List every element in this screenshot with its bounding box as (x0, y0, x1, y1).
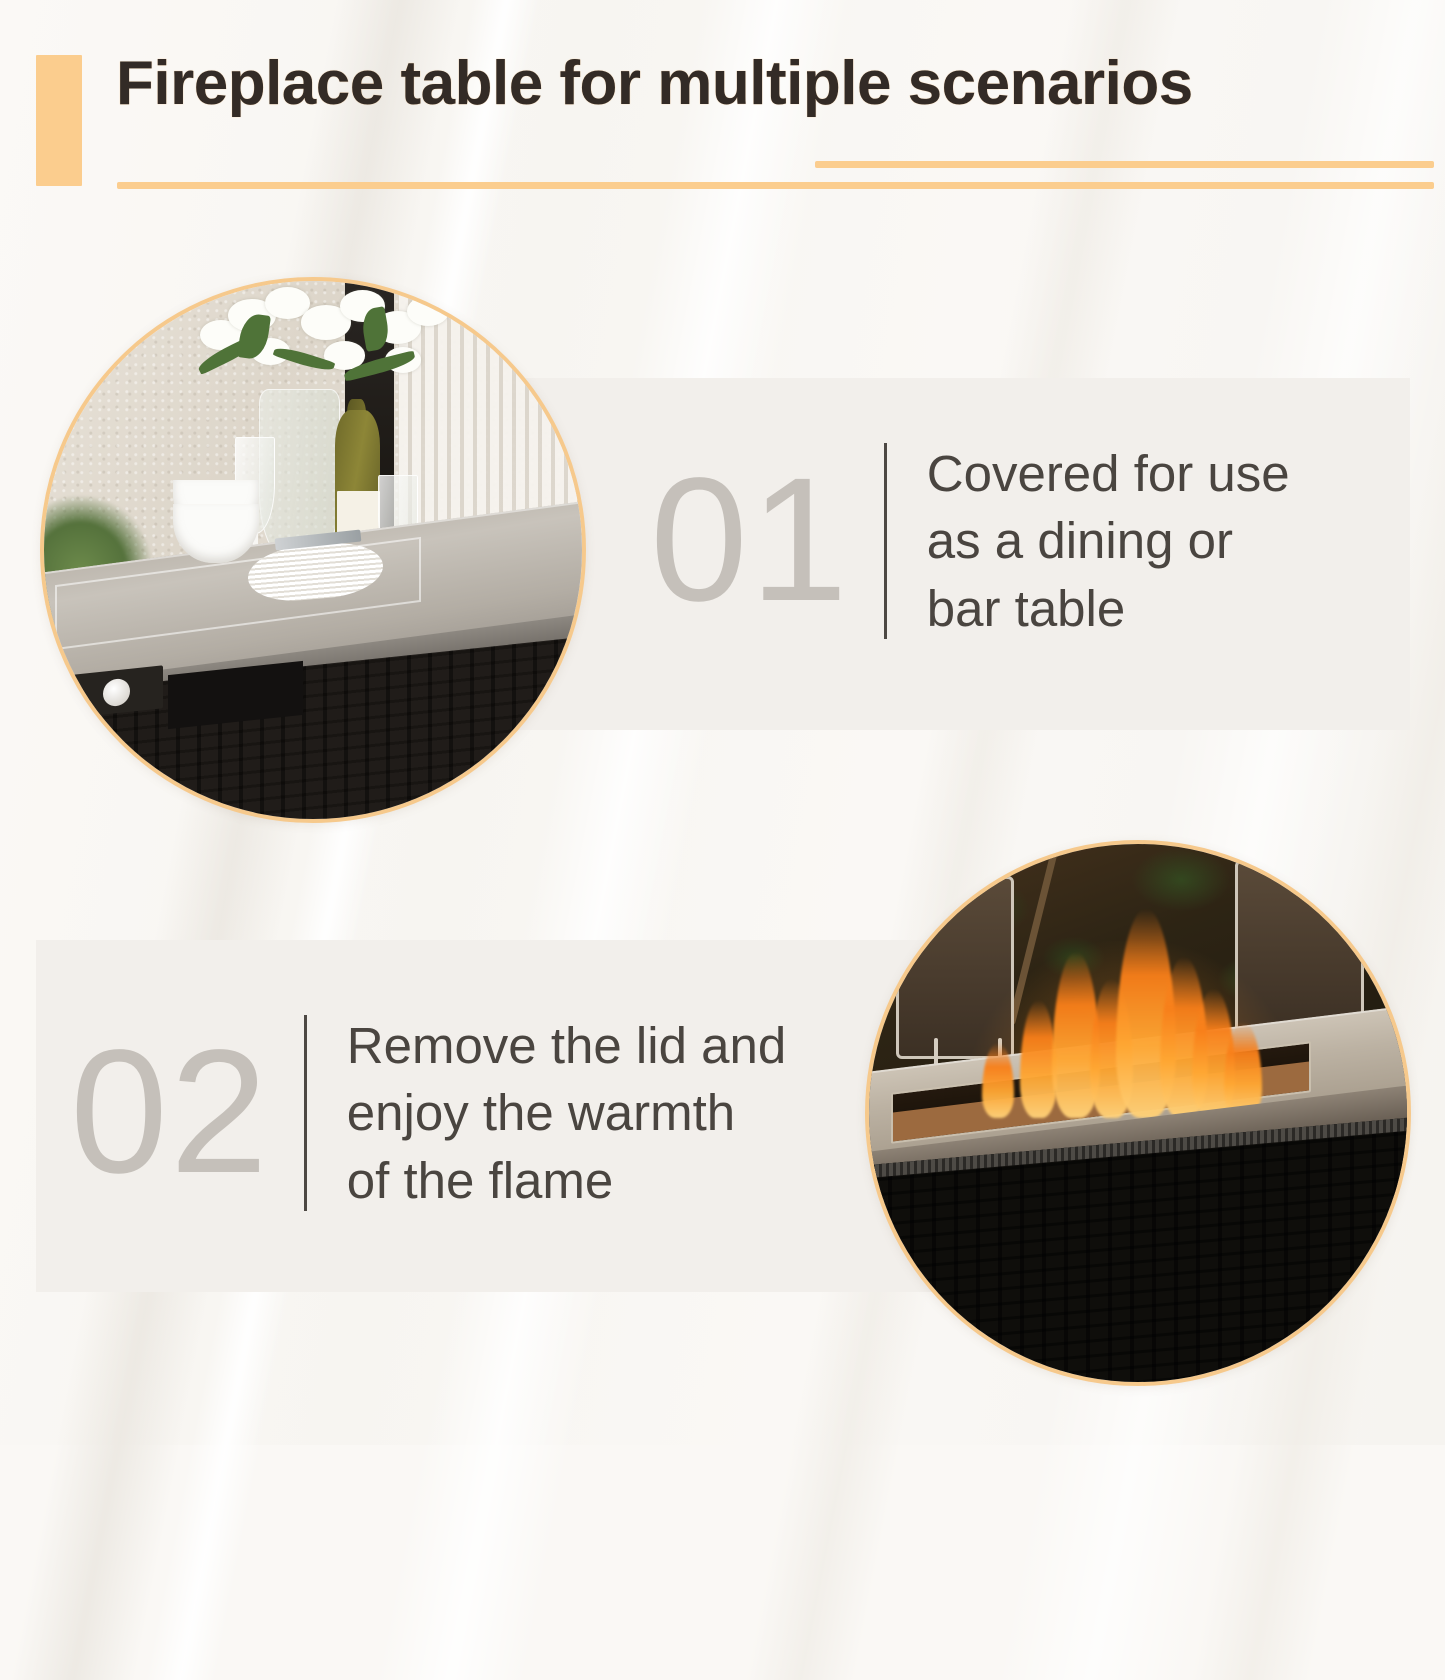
header-rule-upper (815, 161, 1434, 168)
page-title: Fireplace table for multiple scenarios (116, 48, 1193, 119)
background-streak (995, 0, 1445, 1680)
header: Fireplace table for multiple scenarios (0, 0, 1445, 230)
step-text-01: Covered for use as a dining or bar table (927, 440, 1290, 642)
background-streak (10, 0, 504, 1680)
patio-chair (1235, 860, 1364, 1038)
step-divider (304, 1015, 307, 1211)
photo-fire-pit (865, 840, 1411, 1386)
feature-01: 01 Covered for use as a dining or bar ta… (650, 440, 1290, 642)
step-text-02: Remove the lid and enjoy the warmth of t… (347, 1012, 786, 1214)
header-rule-lower (117, 182, 1434, 189)
step-number-01: 01 (650, 465, 850, 616)
dining-scene (44, 281, 582, 819)
flame-scene (869, 844, 1407, 1382)
feature-02: 02 Remove the lid and enjoy the warmth o… (70, 1012, 786, 1214)
background-streak (145, 0, 584, 1680)
title-accent-bar (36, 55, 82, 186)
background-streak (1190, 0, 1445, 1680)
background-streak (375, 0, 894, 1680)
step-divider (884, 443, 887, 639)
patio-chair (896, 876, 1014, 1059)
step-number-02: 02 (70, 1037, 270, 1188)
photo-dining-table (40, 277, 586, 823)
